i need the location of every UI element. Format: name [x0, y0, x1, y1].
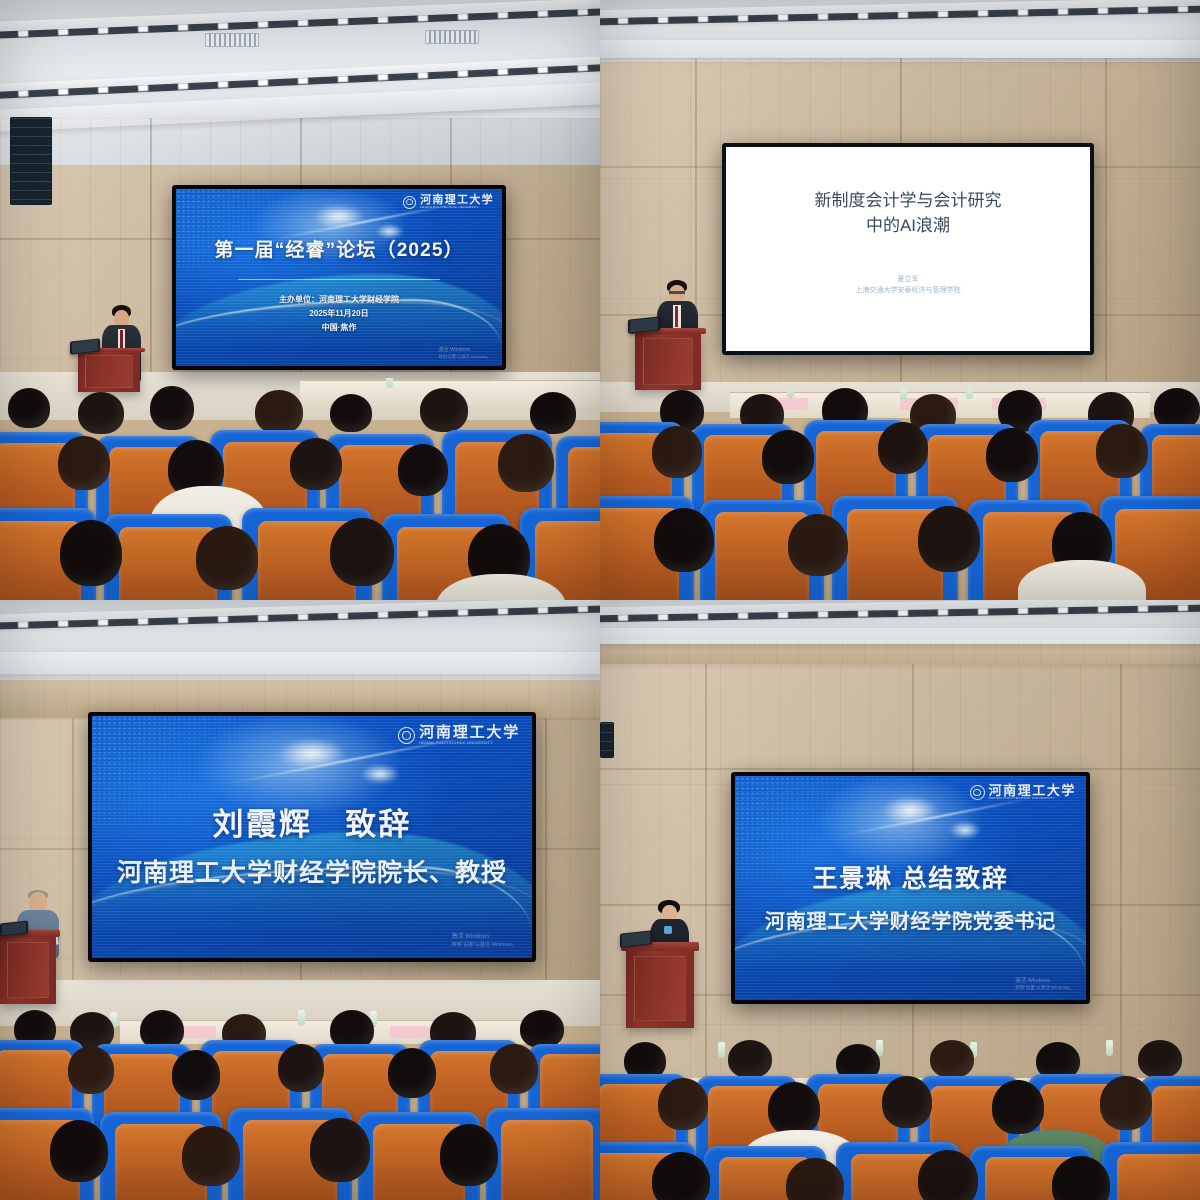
audience	[600, 1030, 1200, 1200]
led-screen: 河南理工大学 HENAN POLYTECHNIC UNIVERSITY 第一届“…	[172, 185, 506, 370]
podium	[635, 328, 701, 390]
windows-watermark: 激活 Windows 转到“设置”以激活 Windows。	[1015, 978, 1074, 991]
wall-speaker	[10, 117, 52, 205]
speaker-name: 王景琳 总结致辞	[813, 859, 1009, 895]
slide-keynote: 新制度会计学与会计研究 中的AI浪潮 夏立军 上海交通大学安泰经济与管理学院	[726, 147, 1090, 351]
projection-screen: 新制度会计学与会计研究 中的AI浪潮 夏立军 上海交通大学安泰经济与管理学院	[722, 143, 1094, 355]
speaker-role: 河南理工大学财经学院院长、教授	[117, 853, 507, 889]
led-screen: 河南理工大学 HENAN POLYTECHNIC UNIVERSITY 刘霞辉 …	[88, 712, 536, 962]
slide-title: 河南理工大学 HENAN POLYTECHNIC UNIVERSITY 第一届“…	[176, 189, 502, 366]
air-vent	[205, 33, 259, 47]
panel-bottom-left: 河南理工大学 HENAN POLYTECHNIC UNIVERSITY 刘霞辉 …	[0, 600, 600, 1200]
speaker-name: 刘霞辉 致辞	[212, 799, 411, 844]
podium	[626, 942, 694, 1028]
air-vent	[425, 30, 479, 44]
panel-bottom-right: 河南理工大学 HENAN POLYTECHNIC UNIVERSITY 王景琳 …	[600, 600, 1200, 1200]
panel-top-left: 河南理工大学 HENAN POLYTECHNIC UNIVERSITY 第一届“…	[0, 0, 600, 600]
ceiling	[600, 0, 1200, 62]
slide-speaker-card: 河南理工大学 HENAN POLYTECHNIC UNIVERSITY 刘霞辉 …	[92, 716, 532, 958]
photo-collage: 河南理工大学 HENAN POLYTECHNIC UNIVERSITY 第一届“…	[0, 0, 1200, 1200]
audience	[0, 1010, 600, 1200]
ceiling	[0, 600, 600, 680]
audience	[0, 378, 600, 600]
slide-title-text: 第一届“经睿”论坛（2025）	[214, 235, 463, 262]
led-screen: 河南理工大学 HENAN POLYTECHNIC UNIVERSITY 王景琳 …	[731, 772, 1090, 1004]
slide-place-line: 中国·焦作	[322, 321, 357, 335]
keynote-author: 夏立军	[898, 274, 919, 285]
slide-date-line: 2025年11月20日	[309, 307, 368, 321]
windows-watermark: 激活 Windows 转到“设置”以激活 Windows。	[452, 933, 517, 948]
podium	[0, 930, 56, 1004]
keynote-affiliation: 上海交通大学安泰经济与管理学院	[856, 285, 961, 296]
panel-top-right: 新制度会计学与会计研究 中的AI浪潮 夏立军 上海交通大学安泰经济与管理学院	[600, 0, 1200, 600]
audience	[600, 388, 1200, 600]
keynote-title-line-1: 新制度会计学与会计研究	[815, 189, 1002, 214]
wall-speaker	[600, 722, 614, 758]
ceiling	[600, 600, 1200, 640]
slide-host-line: 主办单位：河南理工大学财经学院	[279, 293, 399, 307]
slide-speaker-card: 河南理工大学 HENAN POLYTECHNIC UNIVERSITY 王景琳 …	[735, 776, 1086, 1000]
keynote-title-line-2: 中的AI浪潮	[866, 214, 950, 239]
speaker-role: 河南理工大学财经学院党委书记	[765, 905, 1056, 934]
windows-watermark: 激活 Windows 转到“设置”以激活 Windows。	[439, 347, 491, 359]
